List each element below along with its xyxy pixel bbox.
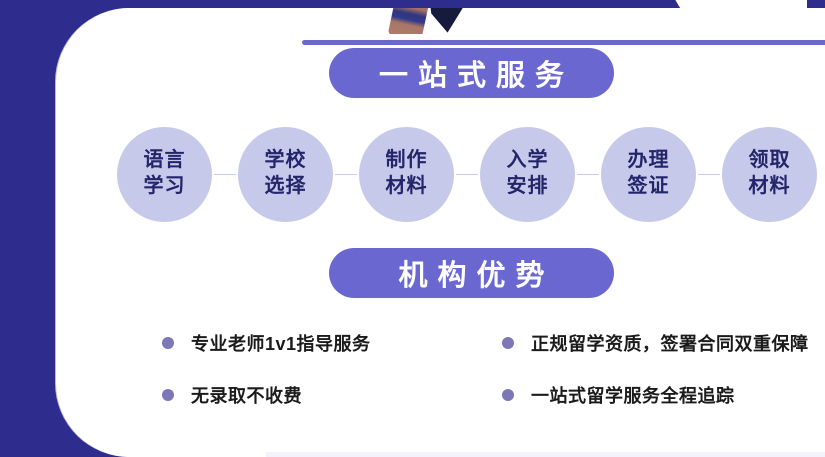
step-connector-line	[214, 174, 236, 175]
cropped-photo-fragment	[386, 8, 478, 34]
list-item: 正规留学资质，签署合同双重保障	[502, 330, 825, 356]
step-label-line1: 制作	[386, 148, 428, 174]
step-item-enrollment[interactable]: 入学 安排	[480, 127, 575, 222]
step-circle[interactable]: 领取 材料	[722, 127, 817, 222]
step-connector-line	[335, 174, 357, 175]
step-label-line1: 入学	[507, 148, 549, 174]
step-item-visa[interactable]: 办理 签证	[601, 127, 696, 222]
step-connector-line	[698, 174, 720, 175]
promo-graphic-root: 一站式服务 语言 学习 学校 选择 制作 材料	[0, 0, 825, 457]
step-connector-line	[577, 174, 599, 175]
step-label-line1: 办理	[628, 148, 670, 174]
step-label-line2: 安排	[507, 174, 549, 200]
service-banner: 一站式服务	[329, 48, 614, 98]
step-item-prepare-materials[interactable]: 制作 材料	[359, 127, 454, 222]
service-steps-row: 语言 学习 学校 选择 制作 材料 入学	[117, 124, 817, 224]
step-label-line2: 选择	[265, 174, 307, 200]
step-circle[interactable]: 语言 学习	[117, 127, 212, 222]
step-item-collect-materials[interactable]: 领取 材料	[722, 127, 817, 222]
bullet-dot-icon	[162, 389, 174, 401]
feature-label: 一站式留学服务全程追踪	[531, 382, 735, 408]
step-circle[interactable]: 学校 选择	[238, 127, 333, 222]
photo-dark-shape	[421, 8, 472, 34]
step-label-line2: 签证	[628, 174, 670, 200]
step-item-school-selection[interactable]: 学校 选择	[238, 127, 333, 222]
bottom-accent-strip	[266, 452, 825, 457]
list-item: 无录取不收费	[162, 382, 502, 408]
step-circle[interactable]: 入学 安排	[480, 127, 575, 222]
step-item-language[interactable]: 语言 学习	[117, 127, 212, 222]
step-label-line1: 语言	[144, 148, 186, 174]
feature-label: 正规留学资质，签署合同双重保障	[531, 330, 809, 356]
step-circle[interactable]: 办理 签证	[601, 127, 696, 222]
step-connector-line	[456, 174, 478, 175]
bullet-dot-icon	[162, 337, 174, 349]
bullet-dot-icon	[502, 337, 514, 349]
step-label-line1: 学校	[265, 148, 307, 174]
advantage-feature-list: 专业老师1v1指导服务 正规留学资质，签署合同双重保障 无录取不收费 一站式留学…	[162, 330, 825, 408]
feature-label: 无录取不收费	[191, 382, 302, 408]
list-item: 一站式留学服务全程追踪	[502, 382, 825, 408]
top-divider-rule	[302, 40, 825, 45]
step-circle[interactable]: 制作 材料	[359, 127, 454, 222]
bullet-dot-icon	[502, 389, 514, 401]
step-label-line2: 材料	[386, 174, 428, 200]
feature-label: 专业老师1v1指导服务	[191, 330, 371, 356]
photo-sleeve-shape	[388, 8, 430, 34]
white-content-panel: 一站式服务 语言 学习 学校 选择 制作 材料	[56, 8, 825, 457]
step-label-line2: 材料	[749, 174, 791, 200]
step-label-line2: 学习	[144, 174, 186, 200]
list-item: 专业老师1v1指导服务	[162, 330, 502, 356]
advantage-banner: 机构优势	[329, 248, 614, 298]
step-label-line1: 领取	[749, 148, 791, 174]
